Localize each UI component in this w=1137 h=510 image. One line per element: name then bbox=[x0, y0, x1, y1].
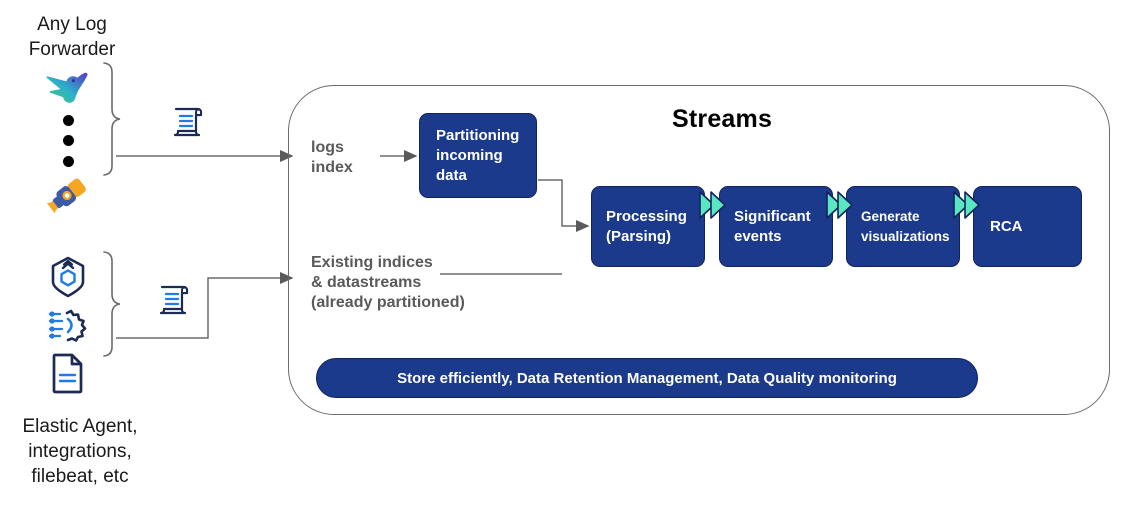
source-group-label-top: Any Log Forwarder bbox=[2, 12, 142, 62]
filebeat-document-icon bbox=[44, 349, 92, 397]
page-title: Streams bbox=[672, 105, 772, 134]
stage-box-partitioning[interactable]: Partitioning incoming data bbox=[419, 113, 537, 198]
stage-box-significant-events[interactable]: Significant events bbox=[719, 186, 833, 267]
diagram-canvas: Any Log Forwarder Elastic Agent, integra… bbox=[0, 0, 1137, 510]
source-icon-stack-top bbox=[40, 62, 96, 220]
store-efficiently-banner-label: Store efficiently, Data Retention Manage… bbox=[397, 370, 897, 387]
integrations-gear-icon bbox=[44, 301, 92, 349]
chevron-right-icon-2 bbox=[824, 190, 858, 220]
fluent-bit-logo-icon bbox=[44, 172, 92, 220]
ellipsis-dots bbox=[63, 110, 74, 172]
chevron-right-icon-3 bbox=[951, 190, 985, 220]
stage-label-generate-visualizations: Generate visualizations bbox=[861, 207, 950, 247]
dot bbox=[63, 135, 74, 146]
stage-box-rca[interactable]: RCA bbox=[973, 186, 1082, 267]
stage-label-rca: RCA bbox=[990, 217, 1023, 237]
source-icon-stack-bottom bbox=[40, 253, 96, 397]
log-scroll-icon-bottom bbox=[152, 278, 196, 322]
store-efficiently-banner[interactable]: Store efficiently, Data Retention Manage… bbox=[316, 358, 978, 398]
dot bbox=[63, 115, 74, 126]
source-group-label-bottom: Elastic Agent, integrations, filebeat, e… bbox=[0, 414, 160, 489]
stage-label-significant-events: Significant events bbox=[734, 207, 811, 247]
elastic-agent-icon bbox=[44, 253, 92, 301]
input-label-logs-index: logs index bbox=[311, 138, 353, 178]
log-scroll-icon-top bbox=[166, 100, 210, 144]
vector-hummingbird-logo-icon bbox=[44, 62, 92, 110]
dot bbox=[63, 156, 74, 167]
input-label-existing-indices: Existing indices & datastreams (already … bbox=[311, 253, 465, 313]
stage-label-partitioning: Partitioning incoming data bbox=[436, 126, 519, 186]
stage-label-processing: Processing (Parsing) bbox=[606, 207, 687, 247]
stage-box-processing[interactable]: Processing (Parsing) bbox=[591, 186, 705, 267]
chevron-right-icon-1 bbox=[697, 190, 731, 220]
stage-box-generate-visualizations[interactable]: Generate visualizations bbox=[846, 186, 960, 267]
